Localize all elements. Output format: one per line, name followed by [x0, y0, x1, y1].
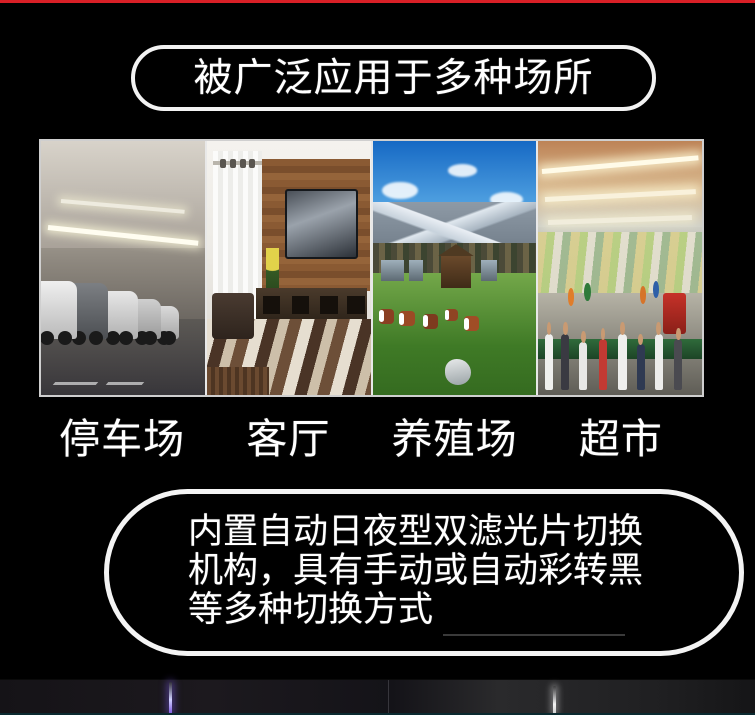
strip-divider — [388, 680, 389, 714]
title-pill: 被广泛应用于多种场所 — [131, 45, 656, 111]
gallery-panel-supermarket — [538, 141, 702, 395]
living-room-photo — [207, 141, 371, 395]
top-accent-rule — [0, 0, 755, 3]
feature-description: 内置自动日夜型双滤光片切换机构，具有手动或自动彩转黑等多种切换方式 — [188, 512, 668, 629]
scene-caption-row: 停车场 客厅 养殖场 超市 — [39, 411, 704, 467]
gallery-panel-farm — [373, 141, 539, 395]
caption-supermarket: 超市 — [538, 419, 704, 460]
page-title: 被广泛应用于多种场所 — [193, 59, 593, 98]
caption-living-room: 客厅 — [205, 419, 371, 460]
gallery-panel-living-room — [207, 141, 373, 395]
supermarket-photo — [538, 141, 702, 395]
promo-banner: 被广泛应用于多种场所 — [0, 0, 755, 715]
white-light-streak — [553, 686, 556, 714]
caption-parking-garage: 停车场 — [39, 419, 205, 460]
faint-divider-rule — [443, 634, 625, 636]
scene-gallery — [39, 139, 704, 397]
parking-garage-photo — [41, 141, 205, 395]
caption-farm: 养殖场 — [372, 419, 538, 460]
farm-pasture-photo — [373, 141, 537, 395]
bottom-image-strip — [0, 679, 755, 714]
gallery-panel-parking-garage — [41, 141, 207, 395]
violet-light-streak — [169, 682, 172, 714]
